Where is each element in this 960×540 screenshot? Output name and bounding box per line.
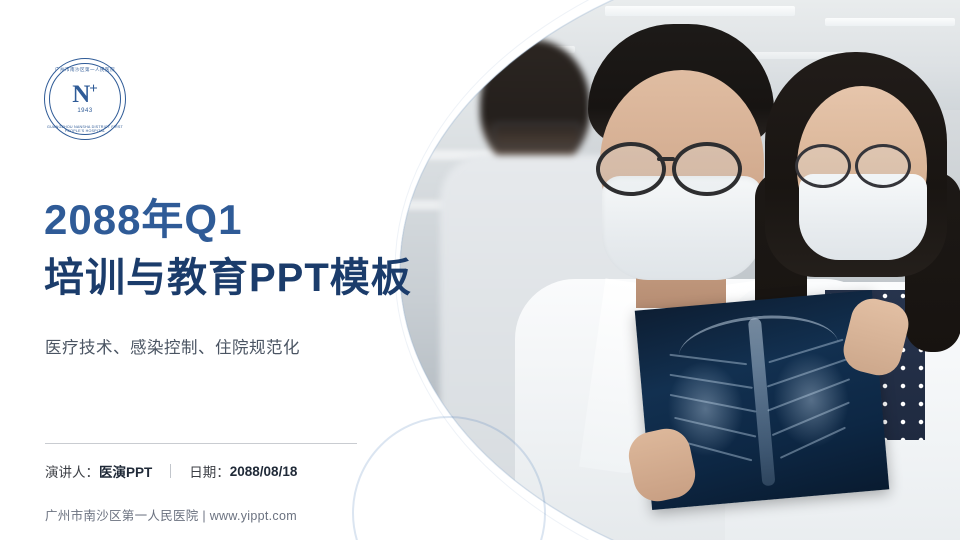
logo-top-text: 广州市南沙区第一人民医院 xyxy=(44,67,126,73)
logo-monogram-letter: N xyxy=(72,81,90,108)
date-label: 日期： xyxy=(189,461,230,481)
logo-founding-year: 1943 xyxy=(44,108,126,114)
female-doctor-glasses-left xyxy=(795,144,851,188)
male-doctor-glasses-right xyxy=(672,142,742,196)
logo-plus-icon: + xyxy=(89,81,98,97)
subtitle: 医疗技术、感染控制、住院规范化 xyxy=(45,334,300,358)
meta-separator xyxy=(170,464,171,478)
speaker-value: 医演PPT xyxy=(99,461,152,481)
ceiling-light-1 xyxy=(415,14,565,23)
male-doctor-glasses-left xyxy=(596,142,666,196)
speaker-label: 演讲人： xyxy=(45,461,99,481)
xray-rib xyxy=(682,441,752,462)
hospital-logo: 广州市南沙区第一人民医院 N+ 1943 GUANGZHOU NANSHA DI… xyxy=(44,58,126,140)
footer-text: 广州市南沙区第一人民医院 | www.yippt.com xyxy=(45,505,297,524)
title-content-column: 广州市南沙区第一人民医院 N+ 1943 GUANGZHOU NANSHA DI… xyxy=(0,0,420,540)
female-doctor-glasses-right xyxy=(855,144,911,188)
presenter-meta-row: 演讲人： 医演PPT 日期： 2088/08/18 xyxy=(45,461,297,481)
ceiling-light-2 xyxy=(605,6,795,16)
xray-rib xyxy=(670,374,753,389)
male-doctor-glasses-bridge xyxy=(657,157,675,161)
date-value: 2088/08/18 xyxy=(230,464,298,479)
divider-line xyxy=(45,443,357,444)
xray-rib xyxy=(670,394,757,413)
xray-rib xyxy=(674,417,756,438)
logo-monogram: N+ xyxy=(44,82,126,107)
logo-bottom-text: GUANGZHOU NANSHA DISTRICT FIRST PEOPLE'S… xyxy=(44,125,126,133)
title-line-1: 2088年Q1 xyxy=(44,198,242,242)
presentation-title-slide: 广州市南沙区第一人民医院 N+ 1943 GUANGZHOU NANSHA DI… xyxy=(0,0,960,540)
xray-rib xyxy=(780,427,846,459)
title-line-2: 培训与教育PPT模板 xyxy=(44,256,412,300)
